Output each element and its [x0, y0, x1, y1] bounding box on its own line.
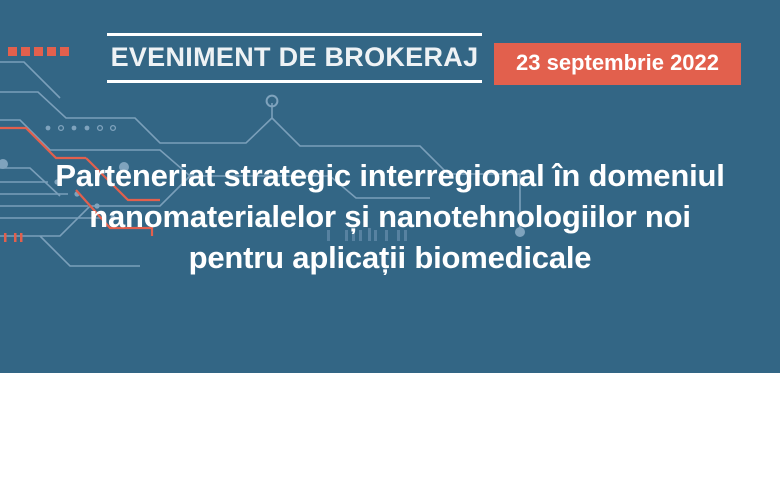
- headline-rule-bottom: [107, 80, 482, 83]
- banner-header: EVENIMENT DE BROKERAJ 23 septembrie 2022…: [0, 0, 780, 373]
- event-title-line-1: Parteneriat strategic interregional în d…: [30, 156, 750, 197]
- date-badge: 23 septembrie 2022: [494, 43, 741, 85]
- decorative-square: [47, 47, 56, 56]
- headline-text: EVENIMENT DE BROKERAJ: [107, 36, 482, 80]
- event-title-line-2: nanomaterialelor și nanotehnologiilor no…: [30, 197, 750, 238]
- decorative-square: [60, 47, 69, 56]
- decorative-square: [34, 47, 43, 56]
- footer-logo-strip: NanoMed TWIN: [0, 373, 780, 503]
- event-title-line-3: pentru aplicații biomedicale: [30, 238, 750, 279]
- decorative-square: [8, 47, 17, 56]
- event-title: Parteneriat strategic interregional în d…: [30, 156, 750, 279]
- headline-block: EVENIMENT DE BROKERAJ: [107, 33, 482, 83]
- decorative-square: [21, 47, 30, 56]
- event-poster: EVENIMENT DE BROKERAJ 23 septembrie 2022…: [0, 0, 780, 503]
- decorative-square-row: [8, 47, 69, 56]
